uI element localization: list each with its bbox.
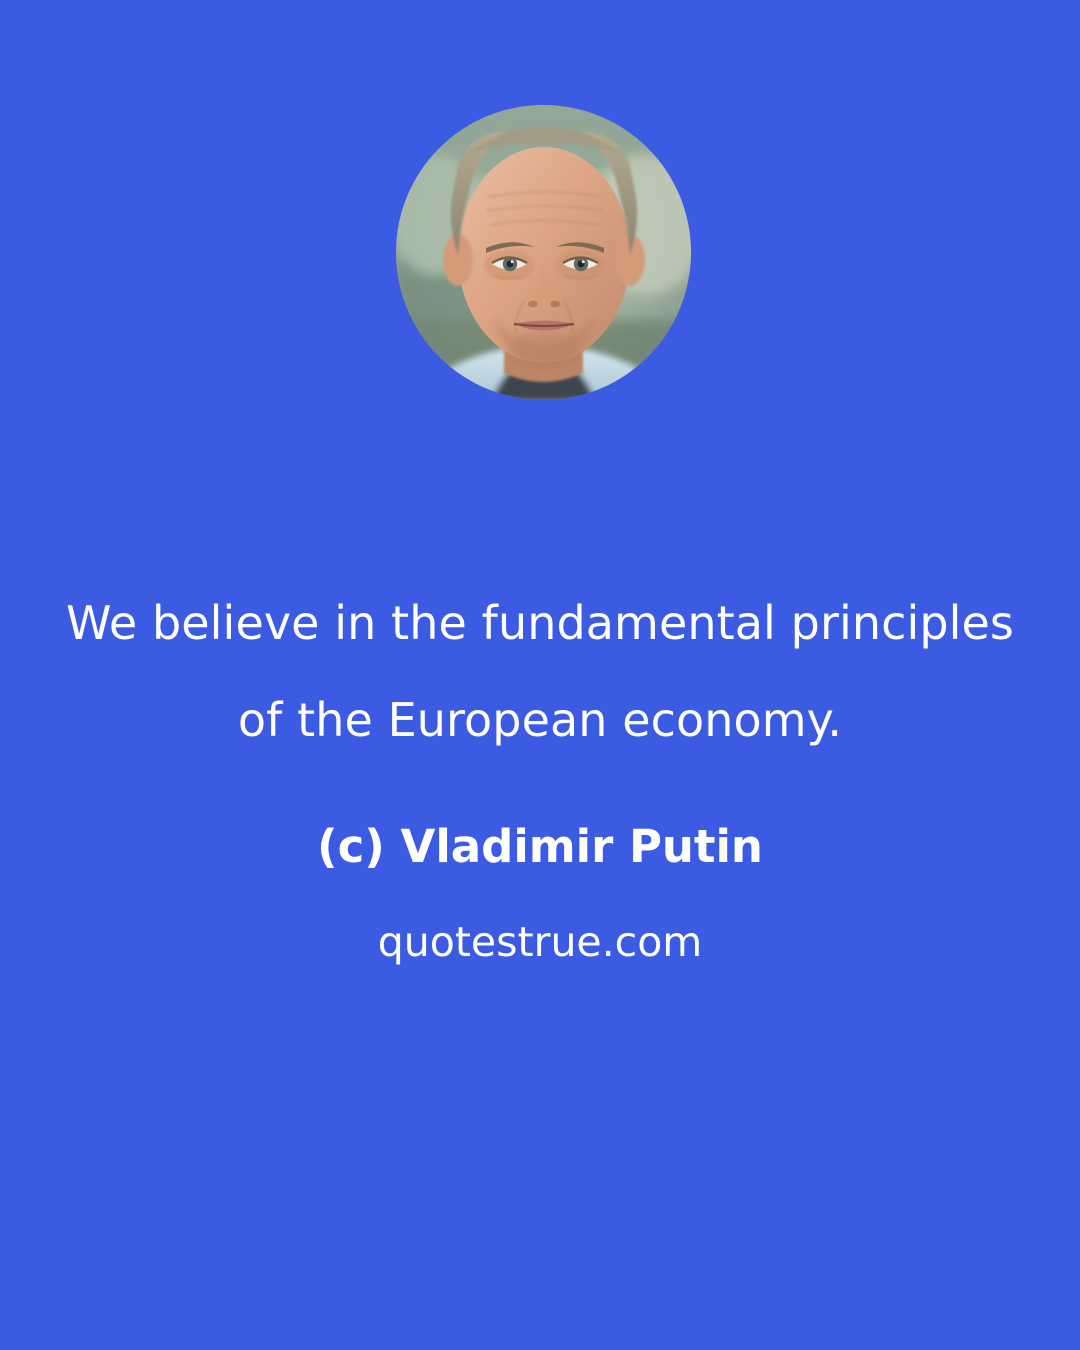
source-website: quotestrue.com <box>0 917 1080 967</box>
quote-card: We believe in the fundamental principles… <box>0 0 1080 1350</box>
quote-text-block: We believe in the fundamental principles… <box>0 575 1080 967</box>
quote-attribution: (c) Vladimir Putin <box>0 819 1080 875</box>
vladimir-putin-portrait-icon <box>396 105 691 400</box>
quote-line-1: We believe in the fundamental principles <box>0 575 1080 672</box>
author-avatar <box>396 105 691 400</box>
quote-line-2: of the European economy. <box>0 672 1080 769</box>
